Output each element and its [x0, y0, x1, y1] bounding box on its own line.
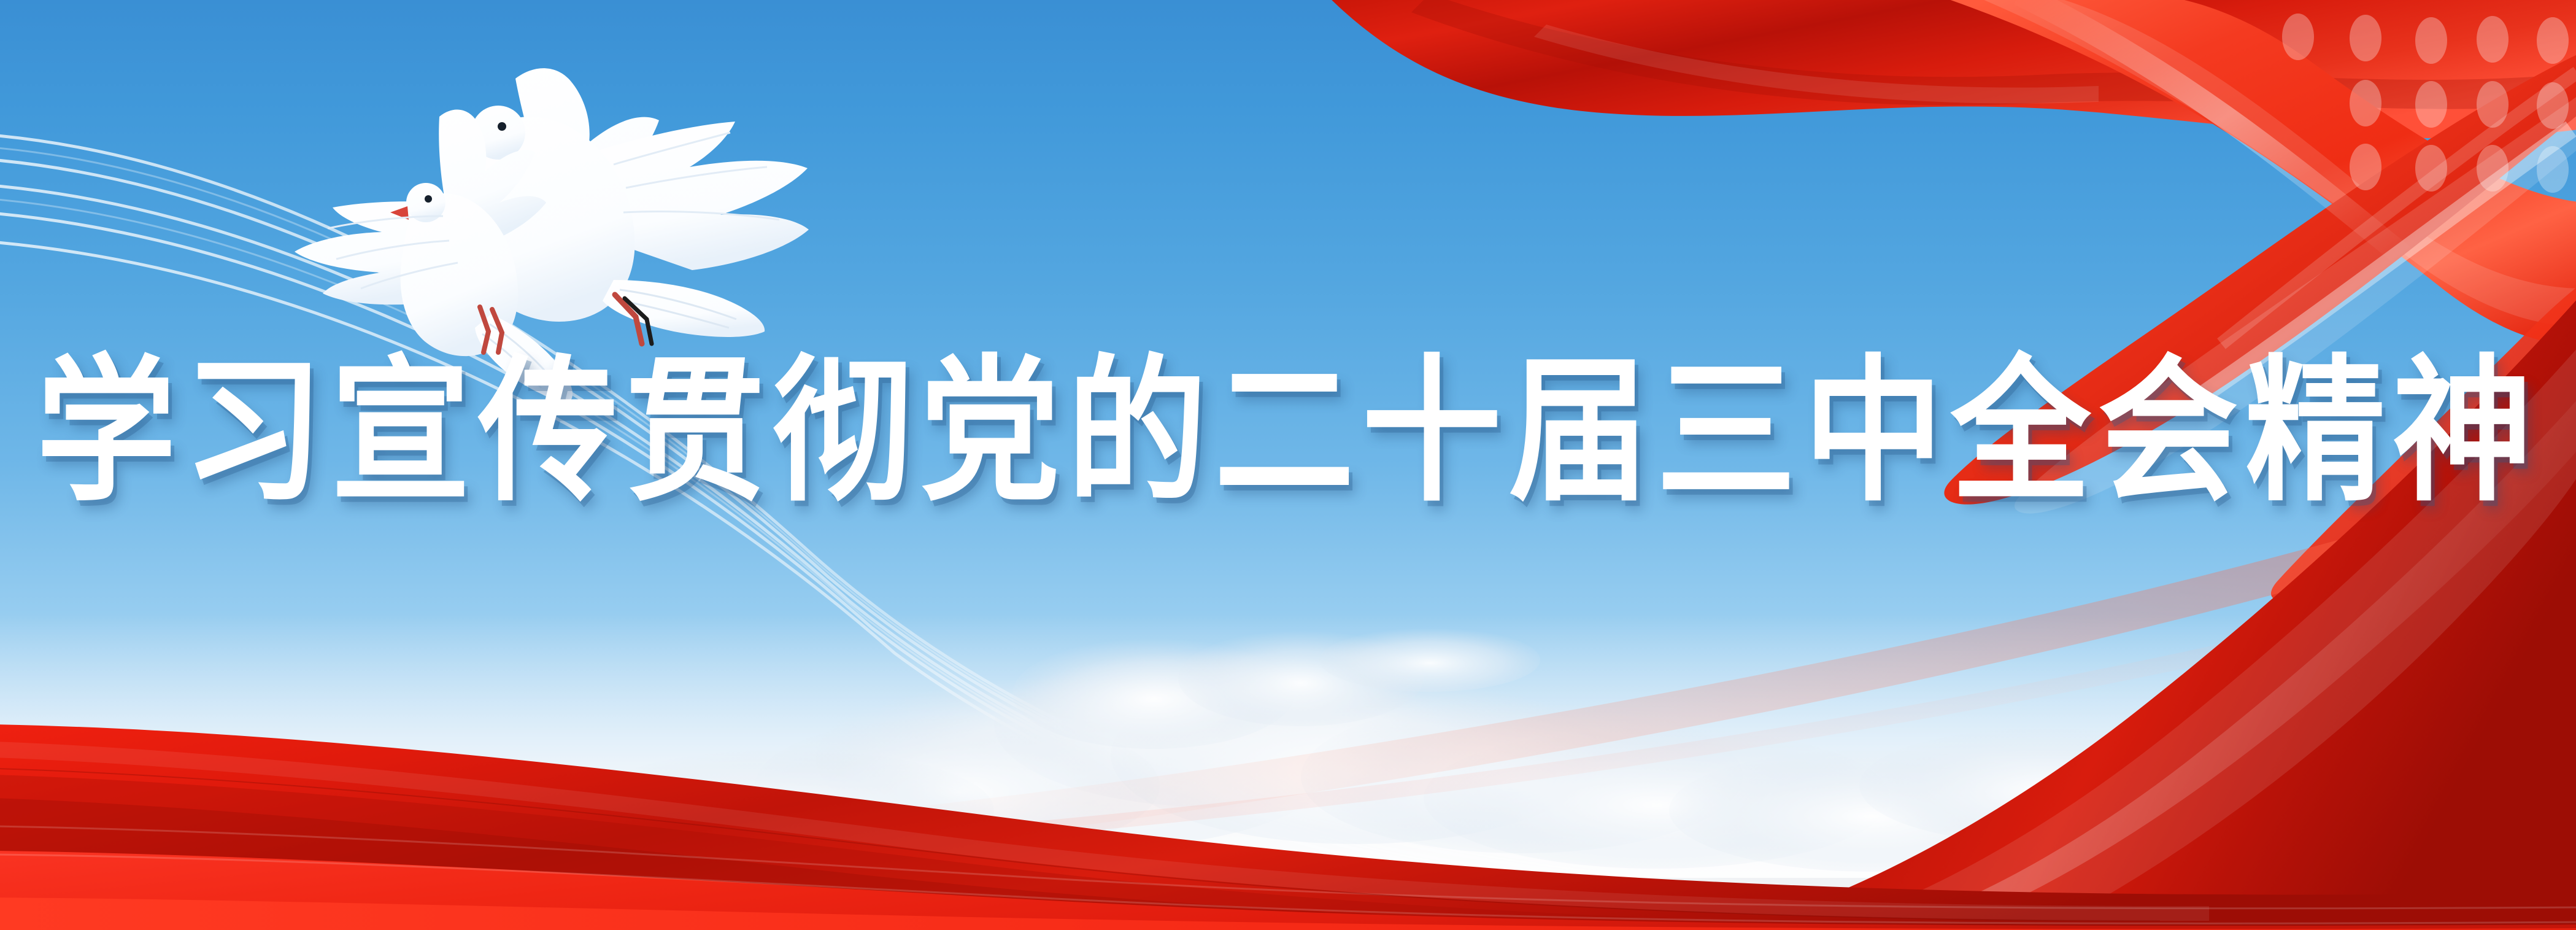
banner-title-container: 学习宣传贯彻党的二十届三中全会精神	[0, 341, 2576, 525]
page-title: 学习宣传贯彻党的二十届三中全会精神	[36, 355, 2540, 511]
poster-banner: 学习宣传贯彻党的二十届三中全会精神	[0, 0, 2576, 930]
dove-large-icon	[452, 68, 809, 344]
